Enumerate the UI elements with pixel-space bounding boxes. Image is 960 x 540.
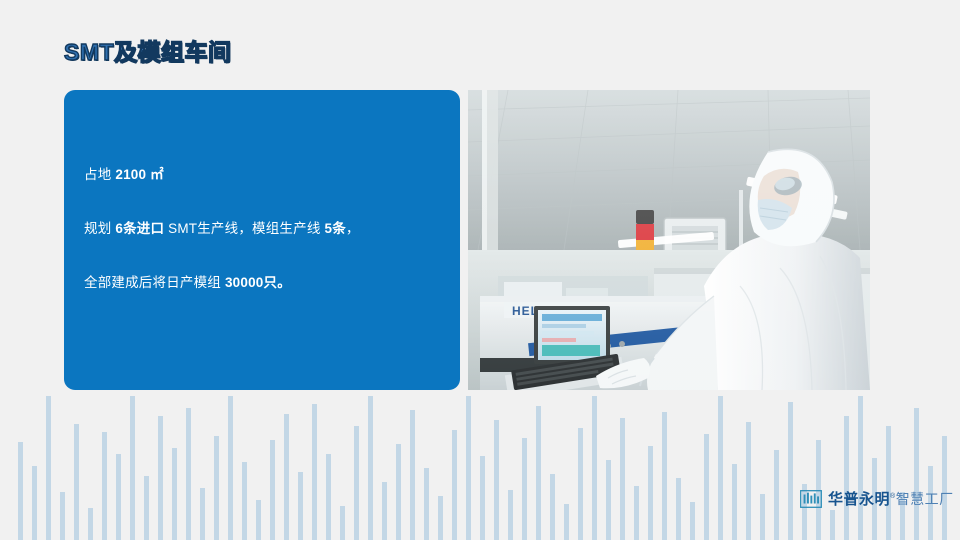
decor-bar [578,428,583,540]
decor-bar [788,402,793,540]
decor-bar [592,396,597,540]
decor-bar [102,432,107,540]
brand-mark-icon [800,490,822,508]
decor-bar [830,510,835,540]
decor-bar [732,464,737,540]
info-text-run: ㎡ [146,167,164,182]
factory-photo-illustration: HELLER [468,90,870,390]
decor-bar [382,482,387,540]
info-panel-lines: 占地 2100 ㎡规划 6条进口 SMT生产线，模组生产线 5条，全部建成后将日… [84,166,446,292]
info-line-daily-output: 全部建成后将日产模组 30000只。 [84,274,446,292]
decor-bar [550,474,555,540]
factory-photo: HELLER [468,90,870,390]
decor-bar [760,494,765,540]
decor-bar [774,450,779,540]
decor-bar [326,454,331,540]
decor-bar [242,462,247,540]
decor-bar [452,430,457,540]
decor-bar [494,420,499,540]
decor-bar [746,422,751,540]
decor-bar [844,416,849,540]
info-text-run: SMT生产线，模组生产线 [164,221,324,236]
decor-bar [704,434,709,540]
info-text-run: 规划 [84,221,115,236]
decor-bar [522,438,527,540]
decor-bar [662,412,667,540]
decor-bar [298,472,303,540]
decor-bar [438,496,443,540]
decor-bar [340,506,345,540]
info-text-run: 5条 [324,221,345,236]
info-line-area: 占地 2100 ㎡ [84,166,446,184]
decor-bar [88,508,93,540]
decor-bar [32,466,37,540]
decor-bar [18,442,23,540]
decor-bar [228,396,233,540]
brand-subtitle: 智慧工厂 [896,491,954,507]
info-text-run: 30000只。 [225,275,291,290]
decor-bar [214,436,219,540]
decor-bar [690,502,695,540]
decor-bar [60,492,65,540]
decor-bar [424,468,429,540]
decor-bar [144,476,149,540]
info-text-run: 全部建成后将日产模组 [84,275,225,290]
decor-bar [116,454,121,540]
decorative-bar-pattern [0,396,960,540]
decor-bar [466,396,471,540]
info-line-lines-planned: 规划 6条进口 SMT生产线，模组生产线 5条， [84,220,446,238]
brand-logo: 华普永明®智慧工厂 [800,489,954,508]
decor-bar [312,404,317,540]
decor-bar [130,396,135,540]
decor-bar [354,426,359,540]
decor-bar [396,444,401,540]
info-panel: 占地 2100 ㎡规划 6条进口 SMT生产线，模组生产线 5条，全部建成后将日… [64,90,460,390]
brand-name-text: 华普永明 [828,491,890,508]
decor-bar [718,396,723,540]
decor-bar [270,440,275,540]
decor-bar [606,460,611,540]
decor-bar [186,408,191,540]
decor-bar [74,424,79,540]
decor-bar [508,490,513,540]
decor-bar [676,478,681,540]
decor-bar [886,426,891,540]
decor-bar [648,446,653,540]
decor-bar [564,504,569,540]
decor-bar [410,410,415,540]
decor-bar [942,436,947,540]
decor-bar [368,396,373,540]
decor-bar [634,486,639,540]
decor-bar [46,396,51,540]
decor-bar [480,456,485,540]
decor-bar [284,414,289,540]
decor-bar [858,396,863,540]
decor-bar [158,416,163,540]
page-title: SMT及模组车间 [64,33,232,67]
decor-bar [200,488,205,540]
decor-bar [914,408,919,540]
info-text-run: 占地 [84,167,115,182]
info-text-run: ， [346,221,360,236]
decor-bar [172,448,177,540]
decor-bar [536,406,541,540]
brand-name: 华普永明®智慧工厂 [828,489,954,508]
decor-bar [256,500,261,540]
info-text-run: 2100 [115,167,146,182]
info-text-run: 6条进口 [115,221,164,236]
presentation-slide: SMT及模组车间 占地 2100 ㎡规划 6条进口 SMT生产线，模组生产线 5… [0,0,960,540]
decor-bar [620,418,625,540]
